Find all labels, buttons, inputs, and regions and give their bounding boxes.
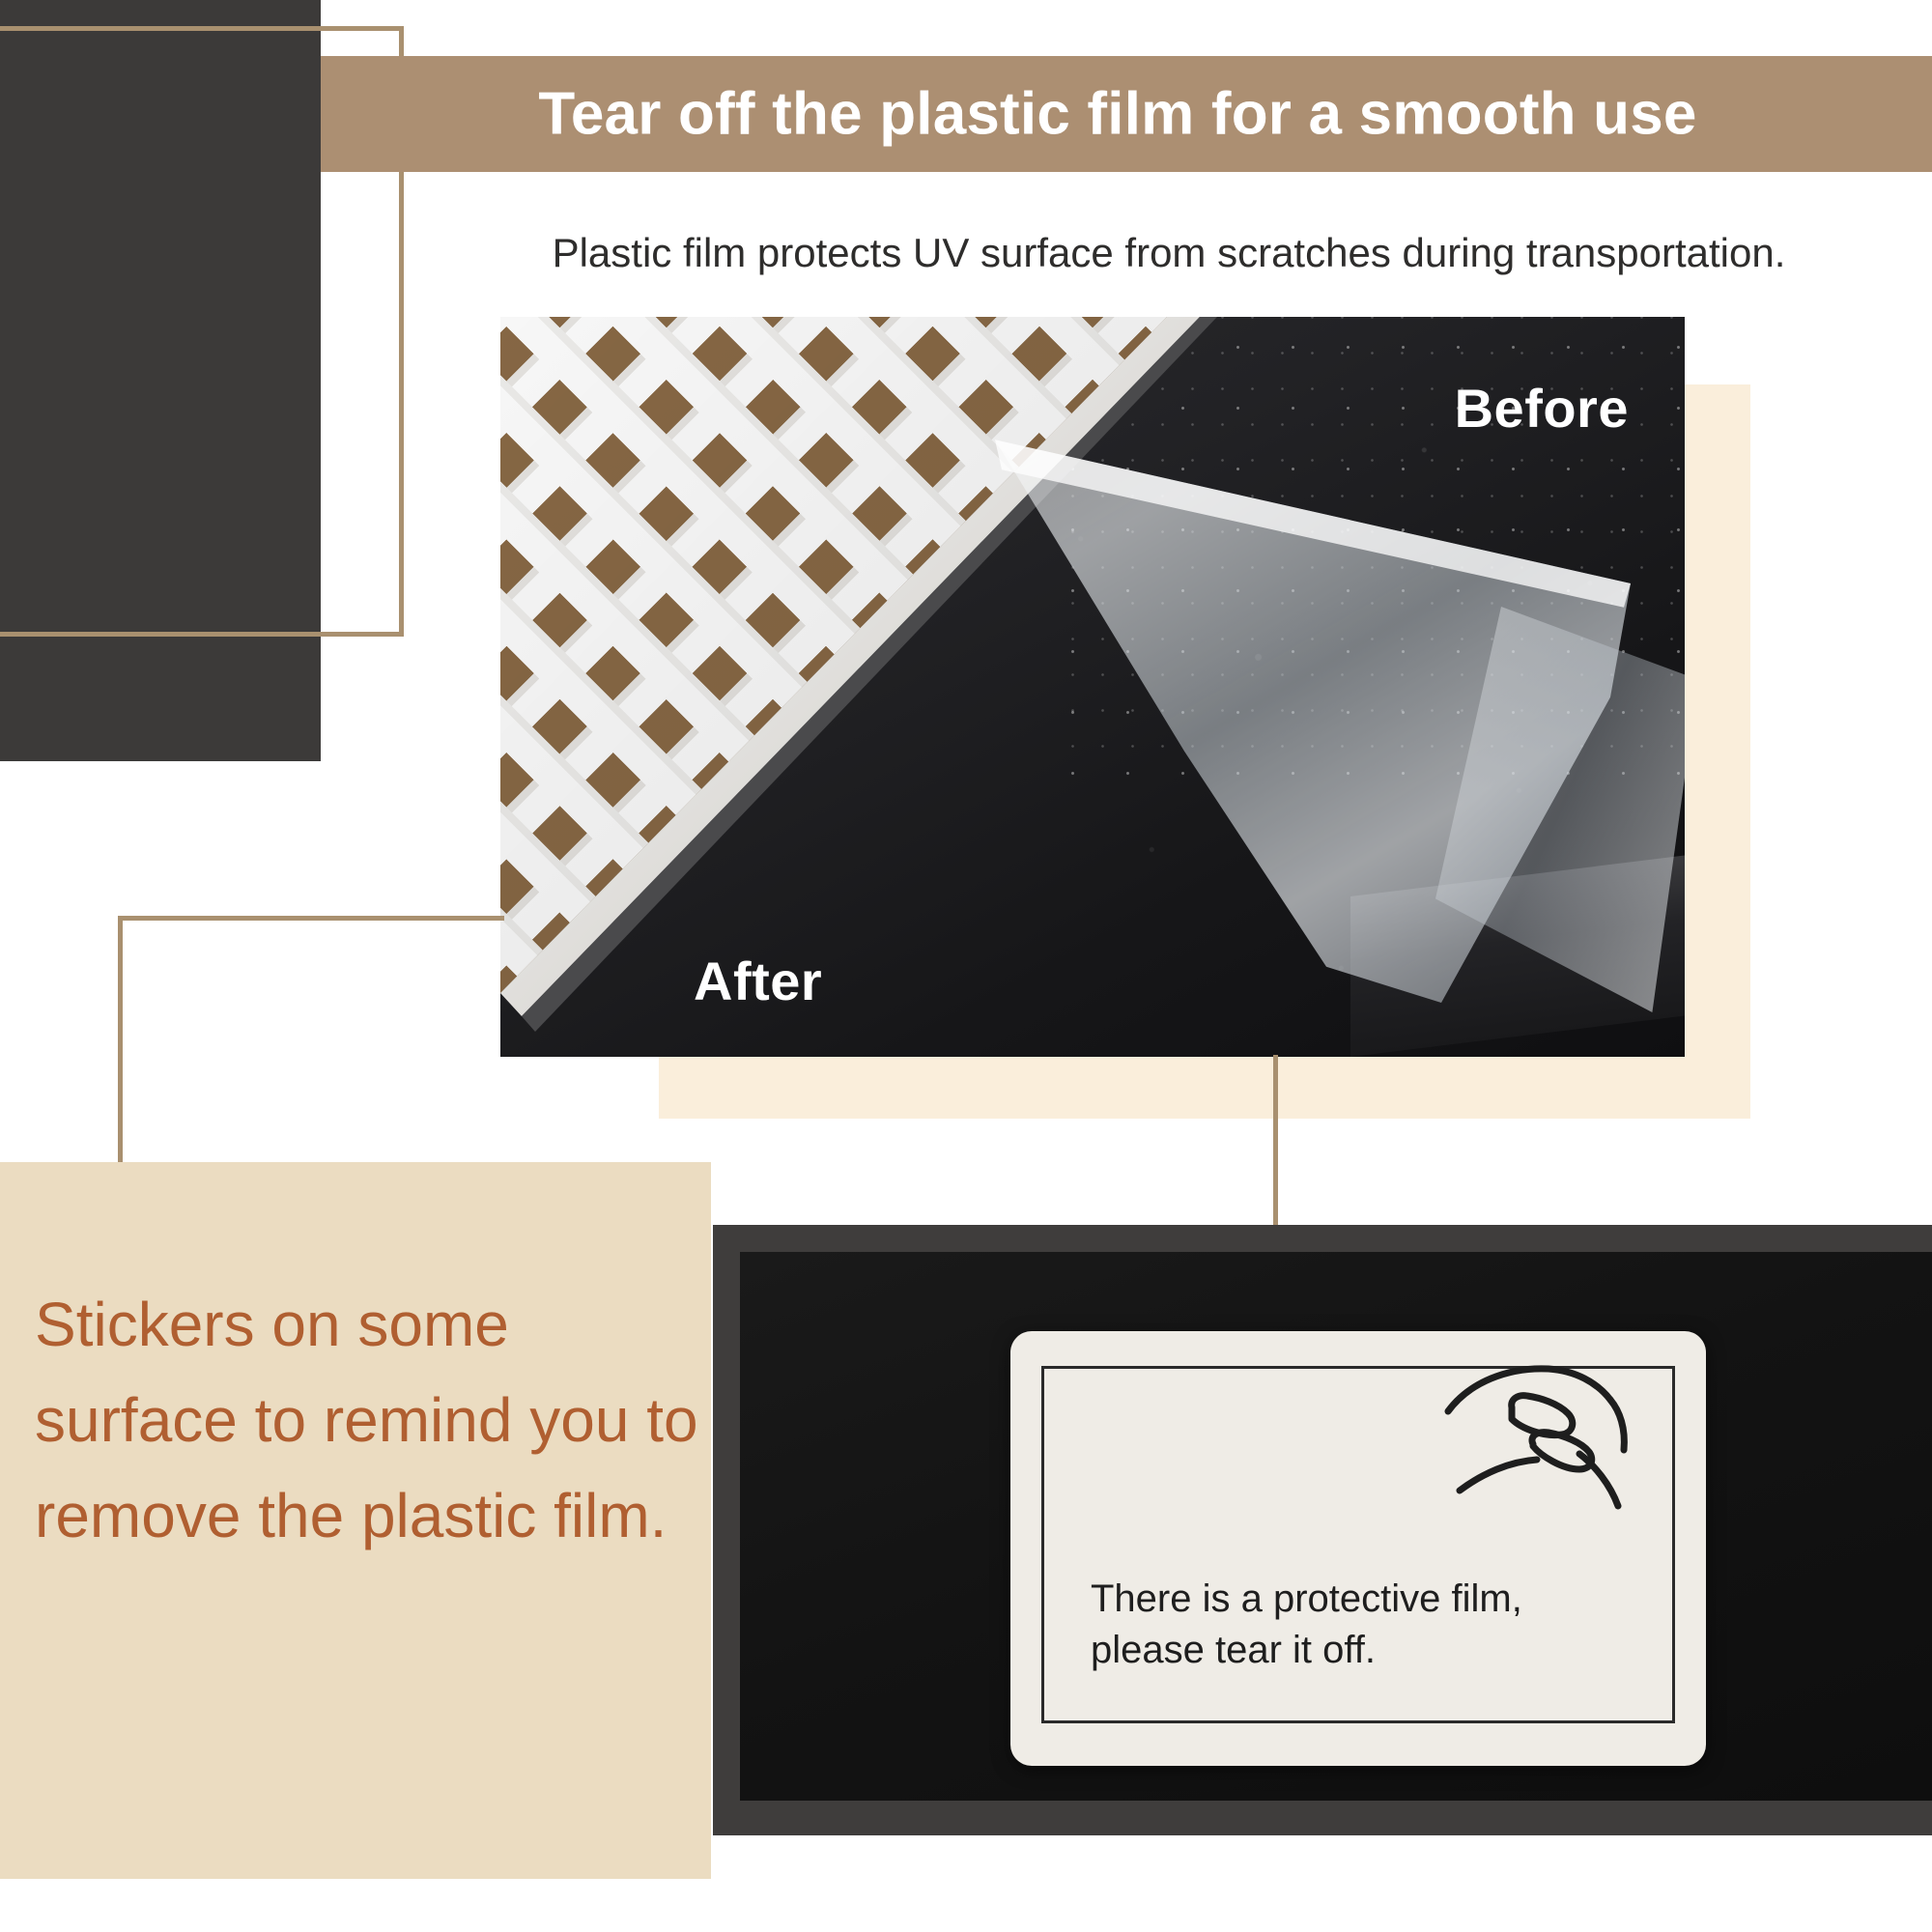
- label-after: After: [694, 950, 822, 1012]
- page-title: Tear off the plastic film for a smooth u…: [321, 80, 1932, 149]
- before-after-photo: Before After: [500, 317, 1685, 1057]
- warning-sticker: There is a protective film, please tear …: [1010, 1331, 1706, 1766]
- sticker-photo: There is a protective film, please tear …: [713, 1225, 1932, 1835]
- title-banner: Tear off the plastic film for a smooth u…: [321, 56, 1932, 172]
- sticker-message: There is a protective film, please tear …: [1091, 1574, 1643, 1676]
- hand-pinching-film-icon: [1440, 1361, 1662, 1545]
- label-before: Before: [1455, 377, 1629, 440]
- page-subtitle: Plastic film protects UV surface from sc…: [406, 230, 1932, 276]
- callout-text: Stickers on some surface to remind you t…: [35, 1277, 711, 1565]
- infographic-canvas: Tear off the plastic film for a smooth u…: [0, 0, 1932, 1932]
- sticker-inner-border: There is a protective film, please tear …: [1041, 1366, 1675, 1723]
- black-panel-surface: There is a protective film, please tear …: [740, 1252, 1932, 1801]
